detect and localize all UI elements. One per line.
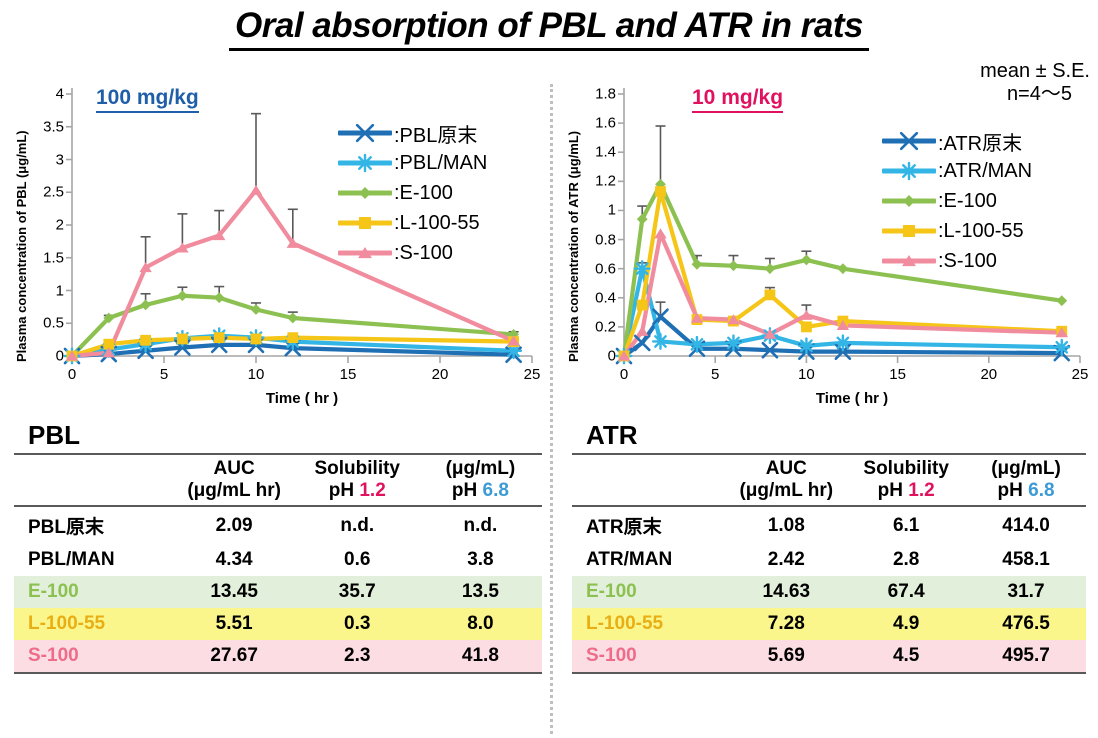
legend-label: :L-100-55 bbox=[394, 212, 480, 235]
error-bars-E-100 bbox=[104, 287, 519, 335]
row-label: E-100 bbox=[572, 576, 726, 608]
row-label: ATR原末 bbox=[572, 506, 726, 544]
marker-square bbox=[140, 335, 151, 346]
row-label: L-100-55 bbox=[572, 608, 726, 640]
x-tick-label: 5 bbox=[144, 366, 184, 383]
row-label: ATR/MAN bbox=[572, 544, 726, 576]
ph-prefix: pH bbox=[878, 480, 909, 501]
legend-label: :L-100-55 bbox=[938, 220, 1024, 243]
table-row: ATR/MAN2.422.8458.1 bbox=[572, 544, 1086, 576]
ph12-value: 1.2 bbox=[359, 480, 385, 501]
marker-diamond bbox=[287, 313, 298, 324]
legend-swatch bbox=[338, 242, 392, 264]
legend-item: :PBL/MAN bbox=[338, 148, 487, 178]
row-label: PBL/MAN bbox=[14, 544, 173, 576]
col-header-auc-l2: (μg/mL hr) bbox=[177, 480, 292, 502]
marker-square bbox=[655, 186, 666, 197]
x-tick-label: 10 bbox=[236, 366, 276, 383]
table-block-pbl: PBL AUC (μg/mL hr) Solubility pH 1.2 (μg… bbox=[14, 420, 542, 674]
rule-cell bbox=[572, 673, 1086, 674]
table-row: E-10013.4535.713.5 bbox=[14, 576, 542, 608]
x-tick-label: 25 bbox=[1060, 366, 1098, 383]
cell-auc: 2.09 bbox=[173, 506, 296, 544]
legend-marker-square-icon bbox=[898, 220, 920, 242]
col-header-solubility: Solubility bbox=[300, 458, 415, 480]
table-row: L-100-555.510.38.0 bbox=[14, 608, 542, 640]
x-tick-label: 20 bbox=[420, 366, 460, 383]
cell-auc: 13.45 bbox=[173, 576, 296, 608]
row-label: S-100 bbox=[14, 640, 173, 673]
cell-ph12: 0.3 bbox=[296, 608, 419, 640]
cell-ph12: 6.1 bbox=[846, 506, 966, 544]
legend-swatch bbox=[338, 182, 392, 204]
marker-diamond bbox=[765, 263, 776, 274]
x-tick-label: 0 bbox=[604, 366, 644, 383]
marker-square bbox=[903, 225, 915, 237]
legend-swatch bbox=[882, 160, 936, 182]
legend-label: :ATR/MAN bbox=[938, 160, 1032, 183]
legend-label: :ATR原末 bbox=[938, 127, 1022, 156]
marker-diamond bbox=[214, 292, 225, 303]
legend-item: :ATR原末 bbox=[882, 126, 1032, 156]
marker-triangle bbox=[636, 326, 648, 336]
cell-ph68: 414.0 bbox=[966, 506, 1086, 544]
marker-triangle bbox=[250, 185, 262, 195]
legend-item: :L-100-55 bbox=[338, 208, 487, 238]
cell-ph12: 4.5 bbox=[846, 640, 966, 673]
x-tick-label: 0 bbox=[52, 366, 92, 383]
marker-square bbox=[359, 217, 371, 229]
cell-auc: 5.51 bbox=[173, 608, 296, 640]
marker-diamond bbox=[837, 263, 848, 274]
table-block-atr: ATR AUC (μg/mL hr) Solubility pH 1.2 (μg… bbox=[572, 420, 1086, 674]
col-header-unit-ph68: (μg/mL) pH 6.8 bbox=[966, 455, 1086, 506]
col-header-solubility: Solubility bbox=[850, 458, 962, 480]
dose-label: 10 mg/kg bbox=[692, 86, 783, 113]
table-row: L-100-557.284.9476.5 bbox=[572, 608, 1086, 640]
col-header-ph12: pH 1.2 bbox=[850, 480, 962, 502]
marker-diamond bbox=[359, 187, 371, 199]
legend-item: :ATR/MAN bbox=[882, 156, 1032, 186]
cell-ph68: 458.1 bbox=[966, 544, 1086, 576]
x-tick-label: 15 bbox=[328, 366, 368, 383]
col-header-solubility-ph12: Solubility pH 1.2 bbox=[296, 455, 419, 506]
marker-diamond bbox=[177, 290, 188, 301]
legend-item: :S-100 bbox=[338, 238, 487, 268]
table-bottom-rule bbox=[572, 673, 1086, 674]
legend-swatch bbox=[338, 122, 392, 144]
col-header-auc-l1: AUC bbox=[730, 458, 842, 480]
ph68-value: 6.8 bbox=[483, 480, 509, 501]
legend-swatch bbox=[882, 190, 936, 212]
legend-marker-diamond-icon bbox=[354, 182, 376, 204]
legend-swatch bbox=[338, 152, 392, 174]
table-row: E-10014.6367.431.7 bbox=[572, 576, 1086, 608]
legend-marker-x-icon bbox=[354, 122, 376, 144]
cell-auc: 7.28 bbox=[726, 608, 846, 640]
chart-panel-pbl: 00.511.522.533.540510152025Time ( hr )Pl… bbox=[0, 78, 550, 418]
cell-ph68: 31.7 bbox=[966, 576, 1086, 608]
legend-marker-square-icon bbox=[354, 212, 376, 234]
cell-ph68: n.d. bbox=[419, 506, 542, 544]
cell-ph12: 2.8 bbox=[846, 544, 966, 576]
row-label: PBL原末 bbox=[14, 506, 173, 544]
legend-marker-triangle-icon bbox=[354, 242, 376, 264]
col-header-unit: (μg/mL) bbox=[423, 458, 538, 480]
table-title-pbl: PBL bbox=[28, 420, 542, 451]
legend-label: :E-100 bbox=[394, 182, 453, 205]
legend-marker-asterisk-icon bbox=[354, 152, 376, 174]
legend-marker-asterisk-icon bbox=[898, 160, 920, 182]
marker-square bbox=[177, 334, 188, 345]
col-header-unit: (μg/mL) bbox=[970, 458, 1082, 480]
chart-legend: :PBL原末:PBL/MAN:E-100:L-100-55:S-100 bbox=[338, 118, 487, 268]
marker-square bbox=[251, 334, 262, 345]
x-axis-title: Time ( hr ) bbox=[772, 390, 932, 407]
marker-square bbox=[801, 321, 812, 332]
cell-ph68: 3.8 bbox=[419, 544, 542, 576]
col-header-ph12: pH 1.2 bbox=[300, 480, 415, 502]
marker-triangle bbox=[358, 247, 372, 258]
chart-atr: 00.20.40.60.811.21.41.61.80510152025Time… bbox=[552, 78, 1098, 418]
page-title-text: Oral absorption of PBL and ATR in rats bbox=[229, 6, 869, 51]
cell-ph12: 67.4 bbox=[846, 576, 966, 608]
marker-diamond bbox=[251, 304, 262, 315]
marker-square bbox=[765, 289, 776, 300]
legend-item: :S-100 bbox=[882, 246, 1032, 276]
cell-ph12: n.d. bbox=[296, 506, 419, 544]
col-header-auc-l2: (μg/mL hr) bbox=[730, 480, 842, 502]
cell-ph68: 495.7 bbox=[966, 640, 1086, 673]
col-header-blank bbox=[572, 455, 726, 506]
legend-item: :E-100 bbox=[338, 178, 487, 208]
row-label: E-100 bbox=[14, 576, 173, 608]
legend-swatch bbox=[338, 212, 392, 234]
legend-label: :PBL/MAN bbox=[394, 152, 487, 175]
marker-triangle bbox=[902, 255, 916, 266]
marker-diamond bbox=[903, 195, 915, 207]
ph-prefix: pH bbox=[998, 480, 1029, 501]
pbl-table: AUC (μg/mL hr) Solubility pH 1.2 (μg/mL)… bbox=[14, 453, 542, 674]
col-header-ph68: pH 6.8 bbox=[423, 480, 538, 502]
legend-marker-x-icon bbox=[898, 130, 920, 152]
x-tick-label: 15 bbox=[878, 366, 918, 383]
error-bars-S-100 bbox=[141, 114, 298, 268]
col-header-unit-ph68: (μg/mL) pH 6.8 bbox=[419, 455, 542, 506]
cell-ph12: 2.3 bbox=[296, 640, 419, 673]
cell-ph68: 13.5 bbox=[419, 576, 542, 608]
marker-diamond bbox=[1056, 295, 1067, 306]
ph-prefix: pH bbox=[329, 480, 360, 501]
legend-label: :S-100 bbox=[938, 250, 997, 273]
cell-ph12: 35.7 bbox=[296, 576, 419, 608]
table-row: ATR原末1.086.1414.0 bbox=[572, 506, 1086, 544]
col-header-auc: AUC (μg/mL hr) bbox=[726, 455, 846, 506]
legend-marker-diamond-icon bbox=[898, 190, 920, 212]
chart-pbl: 00.511.522.533.540510152025Time ( hr )Pl… bbox=[0, 78, 550, 418]
legend-label: :S-100 bbox=[394, 242, 453, 265]
ph-prefix: pH bbox=[452, 480, 483, 501]
ph68-value: 6.8 bbox=[1028, 480, 1054, 501]
col-header-auc-l1: AUC bbox=[177, 458, 292, 480]
table-bottom-rule bbox=[14, 673, 542, 674]
marker-diamond bbox=[801, 255, 812, 266]
x-axis-title: Time ( hr ) bbox=[222, 390, 382, 407]
atr-table: AUC (μg/mL hr) Solubility pH 1.2 (μg/mL)… bbox=[572, 453, 1086, 674]
cell-auc: 2.42 bbox=[726, 544, 846, 576]
x-tick-label: 25 bbox=[512, 366, 552, 383]
cell-auc: 14.63 bbox=[726, 576, 846, 608]
x-tick-label: 10 bbox=[786, 366, 826, 383]
cell-ph68: 41.8 bbox=[419, 640, 542, 673]
dose-label: 100 mg/kg bbox=[96, 86, 199, 113]
row-label: L-100-55 bbox=[14, 608, 173, 640]
cell-ph68: 476.5 bbox=[966, 608, 1086, 640]
marker-square bbox=[287, 332, 298, 343]
x-tick-label: 20 bbox=[969, 366, 1009, 383]
marker-square bbox=[637, 300, 648, 311]
cell-ph12: 4.9 bbox=[846, 608, 966, 640]
legend-swatch bbox=[882, 130, 936, 152]
table-row: PBL原末2.09n.d.n.d. bbox=[14, 506, 542, 544]
y-axis-title: Plasma concentration of ATR (μg/mL) bbox=[566, 131, 581, 362]
marker-square bbox=[214, 332, 225, 343]
col-header-ph68: pH 6.8 bbox=[970, 480, 1082, 502]
legend-swatch bbox=[882, 220, 936, 242]
chart-legend: :ATR原末:ATR/MAN:E-100:L-100-55:S-100 bbox=[882, 126, 1032, 276]
cell-auc: 5.69 bbox=[726, 640, 846, 673]
chart-panel-atr: 00.20.40.60.811.21.41.61.80510152025Time… bbox=[552, 78, 1098, 418]
cell-auc: 4.34 bbox=[173, 544, 296, 576]
legend-label: :E-100 bbox=[938, 190, 997, 213]
col-header-auc: AUC (μg/mL hr) bbox=[173, 455, 296, 506]
table-row: PBL/MAN4.340.63.8 bbox=[14, 544, 542, 576]
table-title-atr: ATR bbox=[586, 420, 1086, 451]
cell-ph68: 8.0 bbox=[419, 608, 542, 640]
col-header-solubility-ph12: Solubility pH 1.2 bbox=[846, 455, 966, 506]
legend-swatch bbox=[882, 250, 936, 272]
y-tick-label: 1.8 bbox=[574, 86, 616, 103]
ph12-value: 1.2 bbox=[908, 480, 934, 501]
y-axis-title: Plasma concentration of PBL (μg/mL) bbox=[14, 130, 29, 362]
col-header-blank bbox=[14, 455, 173, 506]
rule-cell bbox=[14, 673, 542, 674]
page-title: Oral absorption of PBL and ATR in rats bbox=[0, 6, 1098, 51]
legend-marker-triangle-icon bbox=[898, 250, 920, 272]
legend-item: :L-100-55 bbox=[882, 216, 1032, 246]
legend-item: :E-100 bbox=[882, 186, 1032, 216]
marker-diamond bbox=[140, 300, 151, 311]
legend-label: :PBL原末 bbox=[394, 119, 477, 148]
x-tick-label: 5 bbox=[695, 366, 735, 383]
cell-auc: 1.08 bbox=[726, 506, 846, 544]
marker-diamond bbox=[728, 260, 739, 271]
table-row: S-1005.694.5495.7 bbox=[572, 640, 1086, 673]
table-row: S-10027.672.341.8 bbox=[14, 640, 542, 673]
cell-auc: 27.67 bbox=[173, 640, 296, 673]
y-tick-label: 1.6 bbox=[574, 115, 616, 132]
row-label: S-100 bbox=[572, 640, 726, 673]
y-tick-label: 4 bbox=[22, 86, 64, 103]
cell-ph12: 0.6 bbox=[296, 544, 419, 576]
legend-item: :PBL原末 bbox=[338, 118, 487, 148]
